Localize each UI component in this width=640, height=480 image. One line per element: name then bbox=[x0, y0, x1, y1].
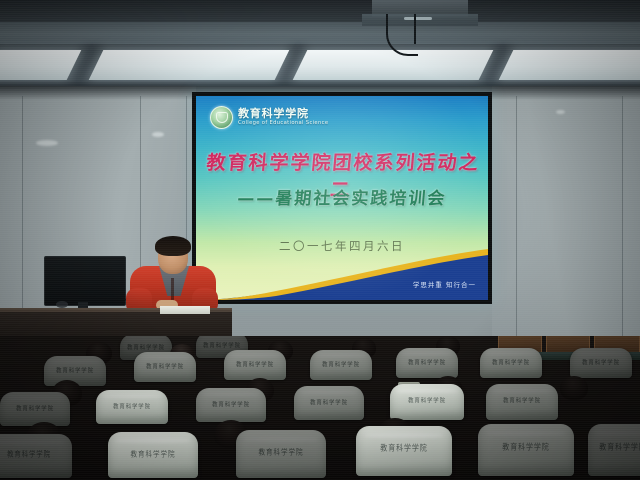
chair-cover-text: 教育科学学院 bbox=[356, 442, 452, 454]
chair-cover-text: 教育科学学院 bbox=[0, 448, 72, 458]
chair-cover-text: 教育科学学院 bbox=[224, 360, 286, 369]
chair-cover-text: 教育科学学院 bbox=[310, 360, 372, 369]
ceiling-band bbox=[0, 22, 640, 44]
ceiling-light-panel bbox=[499, 50, 640, 80]
chair-cover-text: 教育科学学院 bbox=[478, 441, 574, 453]
wall-seam bbox=[22, 96, 23, 328]
ceiling-beam bbox=[0, 0, 640, 22]
chair-cover: 教育科学学院 bbox=[390, 384, 464, 420]
chair-cover: 教育科学学院 bbox=[196, 388, 266, 422]
chair-cover-text: 教育科学学院 bbox=[0, 403, 70, 412]
wall-seam bbox=[622, 96, 623, 340]
projector-mount-plate bbox=[362, 14, 478, 26]
documents-on-desk bbox=[160, 306, 210, 314]
chair-cover-text: 教育科学学院 bbox=[396, 358, 458, 367]
speaker-hair bbox=[155, 236, 191, 256]
chair-cover-text: 教育科学学院 bbox=[196, 340, 248, 349]
wall-scuff bbox=[556, 110, 565, 114]
chair-cover-text: 教育科学学院 bbox=[120, 342, 172, 351]
projection-screen: 教育科学学院 College of Educational Science 教育… bbox=[196, 96, 488, 300]
university-crest-icon bbox=[210, 106, 233, 129]
audience-seating: 教育科学学院 教育科学学院 教育科学学院 教育科学学院 教育科学学院 教育科学学… bbox=[0, 336, 640, 480]
chair-cover: 教育科学学院 bbox=[396, 348, 458, 378]
chair-cover: 教育科学学院 bbox=[480, 348, 542, 378]
chair-cover: 教育科学学院 bbox=[108, 432, 198, 478]
chair-cover-text: 教育科学学院 bbox=[96, 401, 168, 410]
chair-cover-text: 教育科学学院 bbox=[570, 358, 632, 367]
chair-cover: 教育科学学院 bbox=[96, 390, 168, 424]
chair-cover-text: 教育科学学院 bbox=[236, 446, 326, 458]
audience-head bbox=[560, 376, 588, 400]
chair-cover: 教育科学学院 bbox=[0, 434, 72, 478]
chair-cover-text: 教育科学学院 bbox=[486, 396, 558, 405]
ceiling bbox=[0, 0, 640, 86]
chair-cover: 教育科学学院 bbox=[478, 424, 574, 476]
logo-english-name: College of Educational Science bbox=[238, 121, 328, 126]
logo-text-block: 教育科学学院 College of Educational Science bbox=[238, 108, 328, 127]
chair-cover-text: 教育科学学院 bbox=[108, 447, 198, 459]
chair-cover-text: 教育科学学院 bbox=[196, 399, 266, 408]
chair-cover: 教育科学学院 bbox=[588, 424, 640, 476]
chair-cover: 教育科学学院 bbox=[486, 384, 558, 420]
chair-cover-text: 教育科学学院 bbox=[588, 441, 640, 453]
chair-cover: 教育科学学院 bbox=[236, 430, 326, 478]
ceiling-light-panel bbox=[89, 50, 290, 80]
chair-cover: 教育科学学院 bbox=[294, 386, 364, 420]
chair-cover: 教育科学学院 bbox=[0, 392, 70, 426]
slide-logo: 教育科学学院 College of Educational Science bbox=[210, 106, 328, 129]
slide-wave-decoration bbox=[196, 248, 488, 300]
wall-scuff bbox=[152, 132, 164, 137]
slide-motto: 学思并重 知行合一 bbox=[413, 279, 476, 289]
chair-cover: 教育科学学院 bbox=[224, 350, 286, 380]
logo-chinese-name: 教育科学学院 bbox=[238, 108, 328, 120]
chair-cover-text: 教育科学学院 bbox=[480, 358, 542, 367]
chair-cover: 教育科学学院 bbox=[356, 426, 452, 476]
projector-cable bbox=[414, 14, 416, 44]
ceiling-light-panel bbox=[293, 50, 494, 80]
mouse-icon bbox=[56, 301, 68, 308]
wall-right-panel bbox=[492, 86, 640, 340]
chair-cover-text: 教育科学学院 bbox=[294, 397, 364, 406]
wall-seam bbox=[516, 96, 517, 340]
chair-cover: 教育科学学院 bbox=[570, 348, 632, 378]
lecture-hall-photo: 教育科学学院 College of Educational Science 教育… bbox=[0, 0, 640, 480]
wall-scuff bbox=[36, 140, 58, 146]
slide-subtitle: ——暑期社会实践培训会 bbox=[196, 184, 488, 209]
chair-cover: 教育科学学院 bbox=[310, 350, 372, 380]
chair-cover-text: 教育科学学院 bbox=[390, 396, 464, 405]
chair-cover-text: 教育科学学院 bbox=[134, 362, 196, 371]
chair-cover: 教育科学学院 bbox=[134, 352, 196, 382]
chair-cover-text: 教育科学学院 bbox=[44, 366, 106, 375]
